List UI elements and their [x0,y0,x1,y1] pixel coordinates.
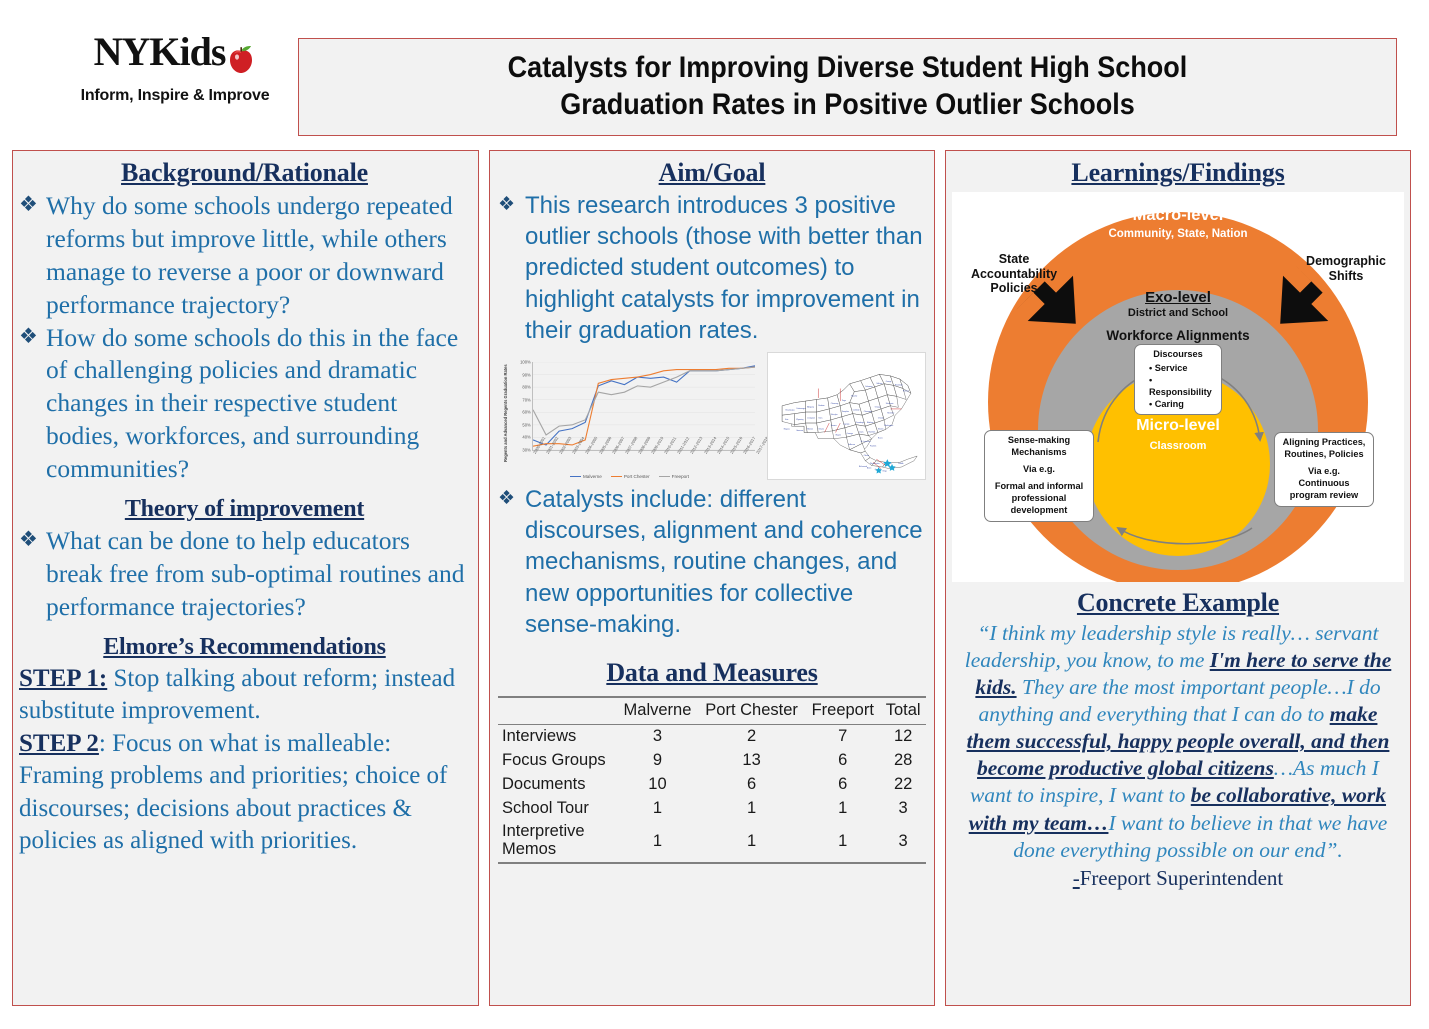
panel-aim-goal: Aim/Goal This research introduces 3 posi… [489,150,935,1006]
table-cell: 13 [698,749,805,773]
legend-swatch [611,476,622,478]
sensemaking-title: Sense-making Mechanisms [990,435,1088,459]
chart-y-tick: 70% [522,397,530,402]
attribution-name: Freeport Superintendent [1080,866,1284,890]
svg-text:Oswego: Oswego [847,433,853,435]
svg-text:Bronx: Bronx [867,467,872,470]
aligning-body: Continuous program review [1280,478,1368,502]
table-cell: 12 [880,724,926,749]
poster-header: NYKids Inform, Inspire & Improve Catalys… [0,0,1429,150]
legend-item: Freeport [659,474,689,479]
svg-text:Jefferson: Jefferson [848,443,855,446]
chart-y-tick: 30% [522,447,530,452]
svg-text:Hamilton: Hamilton [868,430,875,433]
list-item: What can be done to help educators break… [19,525,470,624]
table-row-label: Documents [498,773,617,797]
chart-y-tick: 40% [522,435,530,440]
graduation-rate-line-chart: Regents and Advanced Regents Graduation … [498,352,763,480]
chart-y-tick: 60% [522,410,530,415]
legend-label: Port Chester [624,474,650,479]
theory-bullet-list: What can be done to help educators break… [19,525,470,624]
sensemaking-via: Via e.g. [990,464,1088,476]
box-sense-making-mechanisms: Sense-making Mechanisms Via e.g. Formal … [984,430,1094,522]
table-col-header: Freeport [805,697,880,725]
data-measures-table: MalvernePort ChesterFreeportTotal Interv… [498,696,926,864]
label-macro-level: Macro-level Community, State, Nation [1063,206,1293,242]
svg-text:Sullivan: Sullivan [876,383,882,385]
chart-y-axis-label: Regents and Advanced Regents Graduation … [500,364,512,462]
table-col-header: Malverne [617,697,698,725]
heading-data-and-measures: Data and Measures [498,640,926,690]
sensemaking-body: Formal and informal professional develop… [990,481,1088,517]
poster-root: NYKids Inform, Inspire & Improve Catalys… [0,0,1429,1029]
svg-text:Seneca: Seneca [831,425,837,427]
heading-aim-goal: Aim/Goal [498,155,926,190]
label-micro-level: Micro-level Classroom [1098,417,1258,452]
background-bullet-list: Why do some schools undergo repeated ref… [19,190,470,486]
table-row: InterpretiveMemos1113 [498,821,926,863]
aim-bullet-list-bottom: Catalysts include: different discourses,… [498,484,926,640]
svg-text:Lewis: Lewis [859,431,864,433]
svg-text:Cattaraugus: Cattaraugus [796,407,806,410]
chart-y-tick: 50% [522,422,530,427]
svg-text:Essex: Essex [878,438,883,440]
heading-concrete-example: Concrete Example [952,582,1404,620]
svg-text:Westchester: Westchester [870,462,880,465]
table-cell: 6 [805,749,880,773]
discourses-title: Discourses [1140,349,1216,359]
svg-text:Oneida: Oneida [878,417,884,419]
table-cell: 6 [698,773,805,797]
quote-attribution: -Freeport Superintendent [952,866,1404,891]
table-row: Focus Groups913628 [498,749,926,773]
svg-text:Broome: Broome [851,394,857,397]
list-item: Catalysts include: different discourses,… [498,484,926,640]
list-item: • Service [1149,362,1216,374]
svg-text:Niagara: Niagara [784,427,790,430]
svg-text:Otsego: Otsego [875,405,881,408]
table-cell: 1 [805,821,880,863]
svg-text:St. Lawrence: St. Lawrence [861,440,871,443]
step-2-label: STEP 2 [19,730,99,757]
svg-text:Franklin: Franklin [870,445,876,448]
concrete-example-quote: “I think my leadership style is really… … [952,620,1404,864]
table-body: Interviews32712Focus Groups913628Documen… [498,724,926,862]
svg-text:Suffolk: Suffolk [898,463,903,465]
title-line-1: Catalysts for Improving Diverse Student … [359,49,1336,86]
title-line-2: Graduation Rates in Positive Outlier Sch… [359,86,1336,123]
legend-swatch [659,476,670,478]
svg-text:Cayuga: Cayuga [843,424,849,426]
svg-text:Putnam: Putnam [903,390,909,393]
elmore-steps: STEP 1: Stop talking about reform; inste… [19,663,470,858]
heading-background-rationale: Background/Rationale [19,155,470,190]
svg-text:Kings: Kings [883,471,887,473]
figure-row: Regents and Advanced Regents Graduation … [498,352,926,480]
aim-bullet-list-top: This research introduces 3 positive outl… [498,190,926,346]
table-cell: 1 [698,821,805,863]
poster-title: Catalysts for Improving Diverse Student … [298,38,1397,136]
nykids-logo: NYKids Inform, Inspire & Improve [0,0,290,105]
table-row: Interviews32712 [498,724,926,749]
table-cell: 1 [617,797,698,821]
step-1-label: STEP 1: [19,665,107,692]
list-item: Why do some schools undergo repeated ref… [19,190,470,322]
svg-text:Livingston: Livingston [807,416,815,419]
svg-text:Wayne: Wayne [836,435,841,437]
svg-text:Wyoming: Wyoming [796,419,803,421]
table-col-header [498,697,617,725]
macro-title: Macro-level [1063,206,1293,225]
svg-text:Onondaga: Onondaga [856,422,864,424]
svg-text:Steuben: Steuben [818,404,824,407]
exo-extra: Workforce Alignments [1063,328,1293,344]
table-cell: 1 [617,821,698,863]
table-row: School Tour1113 [498,797,926,821]
chart-y-tick: 80% [522,385,530,390]
svg-text:Warren: Warren [878,427,884,430]
svg-text:Clinton: Clinton [864,454,869,457]
svg-text:Ontario: Ontario [818,427,824,430]
legend-label: Freeport [672,474,689,479]
svg-text:Erie: Erie [785,418,788,421]
svg-text:Orange: Orange [886,380,892,383]
legend-item: Port Chester [611,474,650,479]
svg-text:Genesee: Genesee [796,430,803,432]
map-svg: ChautauquaCattaraugus AlleganySteuben Ch… [768,353,925,479]
table-row: Documents106622 [498,773,926,797]
panel-background-rationale: Background/Rationale Why do some schools… [12,150,479,1006]
table-cell: 1 [805,797,880,821]
micro-subtitle: Classroom [1098,440,1258,453]
table-row-label: Focus Groups [498,749,617,773]
chart-y-tick: 90% [522,372,530,377]
chart-legend: MalvernePort ChesterFreeport [498,474,761,479]
table-header-row: MalvernePort ChesterFreeportTotal [498,697,926,725]
chart-series-port-chester [533,367,755,446]
table-cell: 7 [805,724,880,749]
svg-text:Schoharie: Schoharie [886,402,894,405]
list-item: This research introduces 3 positive outl… [498,190,926,346]
table-row-label: School Tour [498,797,617,821]
table-cell: 2 [698,724,805,749]
svg-text:Tompkins: Tompkins [842,411,849,413]
label-demographic-shifts: Demographic Shifts [1294,254,1398,283]
logo-tagline: Inform, Inspire & Improve [60,87,290,105]
svg-text:Chemung: Chemung [831,403,838,405]
table-cell: 22 [880,773,926,797]
list-item: How do some schools do this in the face … [19,322,470,486]
svg-text:Madison: Madison [867,422,874,424]
table-cell: 3 [617,724,698,749]
label-exo-level: Exo-level District and School Workforce … [1063,289,1293,344]
poster-columns: Background/Rationale Why do some schools… [0,150,1429,1006]
box-aligning-practices: Aligning Practices, Routines, Policies V… [1274,432,1374,507]
heading-elmore-recommendations: Elmore’s Recommendations [19,624,470,663]
svg-text:Yates: Yates [818,416,822,419]
svg-text:Monroe: Monroe [807,427,813,430]
table-cell: 6 [805,773,880,797]
legend-swatch [570,476,581,478]
discourses-items: • Service• Responsibility• Caring [1149,362,1216,411]
svg-text:Washington: Washington [884,424,893,427]
table-cell: 9 [617,749,698,773]
table-col-header: Port Chester [698,697,805,725]
heading-learnings-findings: Learnings/Findings [952,155,1404,190]
list-item: • Responsibility [1149,374,1216,398]
list-item: • Caring [1149,398,1216,410]
table-cell: 28 [880,749,926,773]
attribution-dash: - [1073,866,1080,890]
legend-label: Malverne [583,474,602,479]
svg-text:Tioga: Tioga [842,400,846,402]
table-cell: 10 [617,773,698,797]
svg-text:Rockland: Rockland [895,384,902,386]
panel-learnings-findings: Learnings/Findings [945,150,1411,1006]
chart-y-tick: 100% [520,359,531,364]
table-row-label: Interviews [498,724,617,749]
table-cell: 3 [880,821,926,863]
legend-item: Malverne [570,474,602,479]
svg-text:Chautauqua: Chautauqua [785,408,794,411]
exo-title: Exo-level [1063,289,1293,306]
macro-subtitle: Community, State, Nation [1063,228,1293,242]
svg-text:Allegany: Allegany [807,405,814,408]
table-col-header: Total [880,697,926,725]
exo-subtitle: District and School [1063,307,1293,320]
box-discourses: Discourses • Service• Responsibility• Ca… [1134,344,1222,415]
quote-text: They are the most important people…I do … [979,675,1381,726]
svg-text:Herkimer: Herkimer [887,412,894,415]
label-state-accountability-policies: State Accountability Policies [962,252,1066,296]
new-york-state-map: ChautauquaCattaraugus AlleganySteuben Ch… [767,352,926,480]
svg-text:Cortland: Cortland [853,408,860,411]
heading-theory-of-improvement: Theory of improvement [19,486,470,525]
micro-title: Micro-level [1098,417,1258,436]
nested-levels-diagram: State Accountability Policies Demographi… [952,192,1404,582]
table-row-label: InterpretiveMemos [498,821,617,863]
aligning-title: Aligning Practices, Routines, Policies [1280,437,1368,461]
svg-text:Chenango: Chenango [864,411,872,413]
logo-word-text: NYKids [94,28,226,75]
aligning-via: Via e.g. [1280,466,1368,478]
apple-icon [226,37,256,67]
chart-series-malverne [533,366,755,445]
svg-text:Richmond: Richmond [859,466,867,468]
svg-text:Delaware: Delaware [865,385,872,388]
svg-text:Schuyler: Schuyler [831,413,838,416]
logo-wordmark: NYKids [60,28,290,75]
table-cell: 3 [880,797,926,821]
table-cell: 1 [698,797,805,821]
